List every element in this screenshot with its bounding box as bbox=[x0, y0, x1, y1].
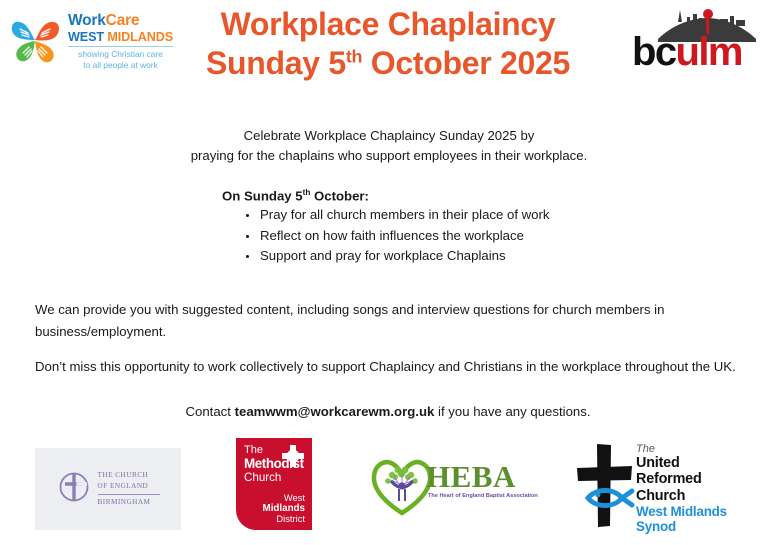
title-line-2-a: Sunday 5 bbox=[206, 45, 346, 81]
coe-logo-inner: THE CHURCH OF ENGLAND BIRMINGHAM bbox=[57, 470, 160, 509]
intro-text: Celebrate Workplace Chaplaincy Sunday 20… bbox=[134, 126, 644, 167]
methodist-cross-icon bbox=[282, 445, 304, 472]
workcare-flower-hands-icon bbox=[8, 12, 64, 72]
contact-email[interactable]: teamwwm@workcarewm.org.uk bbox=[235, 404, 435, 419]
bculm-wordmark: bculm bbox=[632, 32, 742, 72]
intro-line-1: Celebrate Workplace Chaplaincy Sunday 20… bbox=[134, 126, 644, 146]
coe-cross-circle-icon bbox=[57, 470, 91, 509]
workcare-work-text: Work bbox=[68, 12, 106, 29]
coe-logo-text: THE CHURCH OF ENGLAND BIRMINGHAM bbox=[98, 470, 160, 507]
partner-logos: THE CHURCH OF ENGLAND BIRMINGHAM The Met… bbox=[0, 432, 768, 545]
coe-line-3: BIRMINGHAM bbox=[98, 497, 160, 508]
workcare-west-midlands-logo: WorkCare WEST MIDLANDS showing Christian… bbox=[8, 9, 160, 75]
sunday-heading: On Sunday 5th October: bbox=[222, 188, 642, 203]
sunday-actions-block: On Sunday 5th October: Pray for all chur… bbox=[222, 188, 642, 267]
paragraph-suggested-content: We can provide you with suggested conten… bbox=[35, 299, 741, 342]
heba-tagline: The Heart of England Baptist Association bbox=[428, 493, 538, 499]
coe-divider bbox=[98, 494, 160, 495]
methodist-district-text: West Midlands District bbox=[244, 493, 305, 524]
contact-suffix: if you have any questions. bbox=[434, 404, 590, 419]
urc-line-3: Reformed bbox=[636, 471, 727, 487]
sunday-heading-b: October: bbox=[310, 188, 369, 203]
title-line-2: Sunday 5th October 2025 bbox=[158, 44, 618, 83]
bculm-ulm-text: ulm bbox=[675, 30, 741, 74]
contact-prefix: Contact bbox=[185, 404, 234, 419]
title-ordinal-suffix: th bbox=[346, 46, 362, 66]
urc-line-5: West Midlands bbox=[636, 504, 727, 519]
church-of-england-birmingham-logo: THE CHURCH OF ENGLAND BIRMINGHAM bbox=[35, 448, 181, 530]
bculm-bc-text: bc bbox=[632, 30, 675, 74]
title-line-1: Workplace Chaplaincy bbox=[158, 5, 618, 44]
united-reformed-church-west-midlands-synod-logo: The United Reformed Church West Midlands… bbox=[574, 440, 754, 532]
workcare-west-text: WEST bbox=[68, 30, 107, 44]
list-item: Pray for all church members in their pla… bbox=[244, 205, 642, 225]
urc-line-1: The bbox=[636, 443, 727, 455]
intro-line-2: praying for the chaplains who support em… bbox=[134, 146, 644, 166]
contact-line: Contact teamwwm@workcarewm.org.uk if you… bbox=[35, 404, 741, 419]
list-item: Reflect on how faith influences the work… bbox=[244, 226, 642, 246]
coe-line-2: OF ENGLAND bbox=[98, 481, 160, 492]
urc-line-4: Church bbox=[636, 488, 727, 504]
heba-logo: HEBA The Heart of England Baptist Associ… bbox=[370, 453, 522, 523]
methodist-church-west-midlands-district-logo: The Methodist Church West Midlands Distr… bbox=[236, 438, 312, 530]
sunday-heading-a: On Sunday 5 bbox=[222, 188, 303, 203]
urc-line-6: Synod bbox=[636, 519, 727, 534]
coe-line-1: THE CHURCH bbox=[98, 470, 160, 481]
title-line-2-b: October 2025 bbox=[362, 45, 570, 81]
heba-wordmark: HEBA bbox=[426, 461, 516, 492]
poster-header: WorkCare WEST MIDLANDS showing Christian… bbox=[0, 0, 768, 112]
list-item: Support and pray for workplace Chaplains bbox=[244, 246, 642, 266]
workcare-care-text: Care bbox=[106, 12, 140, 29]
page-title: Workplace Chaplaincy Sunday 5th October … bbox=[158, 5, 618, 83]
urc-logo-text: The United Reformed Church West Midlands… bbox=[636, 443, 727, 534]
methodist-line-3: Church bbox=[244, 471, 305, 484]
bculm-logo: bculm bbox=[630, 8, 758, 70]
urc-line-2: United bbox=[636, 455, 727, 471]
action-bullet-list: Pray for all church members in their pla… bbox=[222, 205, 642, 266]
paragraph-opportunity: Don’t miss this opportunity to work coll… bbox=[35, 356, 741, 377]
methodist-sub-3: District bbox=[244, 514, 305, 524]
